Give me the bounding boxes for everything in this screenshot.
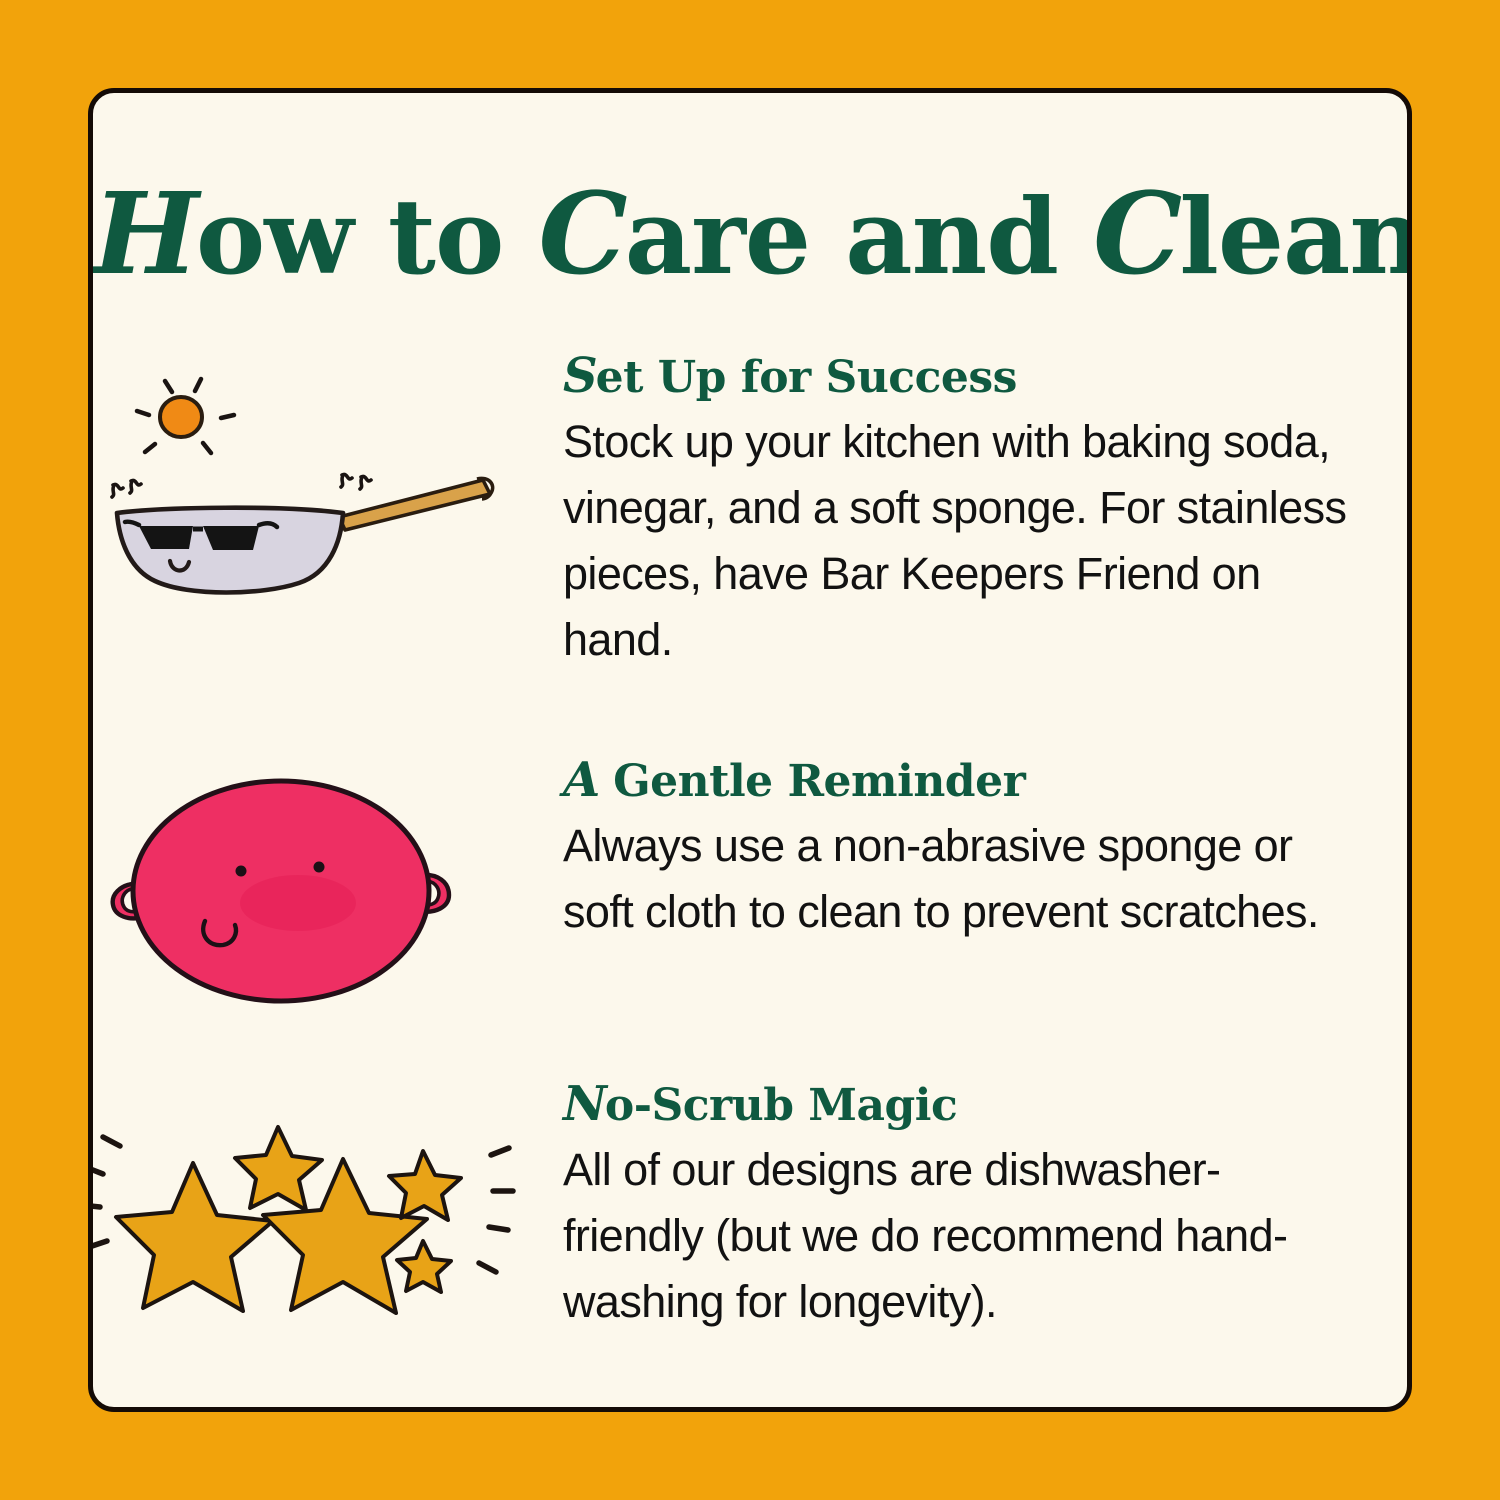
section-heading: Set Up for Success: [563, 351, 1347, 403]
poster-page: How to Care and Clean: [0, 0, 1500, 1500]
lemon-face-illustration-svg: [93, 763, 563, 1013]
heading-rest: o-Scrub Magic: [605, 1080, 957, 1131]
section-heading: A Gentle Reminder: [563, 755, 1347, 807]
section-body-text: Always use a non-abrasive sponge or soft…: [563, 813, 1347, 945]
heading-rest: Gentle Reminder: [598, 756, 1025, 807]
heading-swash: N: [563, 1076, 605, 1132]
care-instructions-list: Set Up for Success Stock up your kitchen…: [93, 351, 1407, 1335]
title-swash-h: H: [93, 169, 196, 300]
section-body-text: Stock up your kitchen with baking soda, …: [563, 409, 1347, 673]
title-swash-c2: C: [1093, 169, 1179, 300]
page-title: How to Care and Clean: [93, 179, 1407, 291]
frying-pan-illustration-svg: [93, 367, 563, 617]
sparkle-stars-icon: [93, 1099, 563, 1349]
section-copy: Set Up for Success Stock up your kitchen…: [563, 351, 1407, 673]
list-item: A Gentle Reminder Always use a non-abras…: [93, 755, 1407, 1005]
heading-swash: S: [563, 348, 596, 404]
list-item: No-Scrub Magic All of our designs are di…: [93, 1079, 1407, 1335]
title-swash-c1: C: [539, 169, 625, 300]
list-item: Set Up for Success Stock up your kitchen…: [93, 351, 1407, 673]
section-heading: No-Scrub Magic: [563, 1079, 1347, 1131]
frying-pan-with-sun-icon: [93, 367, 563, 617]
pink-lemon-face-icon: [93, 763, 563, 1013]
section-copy: A Gentle Reminder Always use a non-abras…: [563, 755, 1407, 945]
heading-swash: A: [563, 752, 598, 808]
title-text-3: lean: [1179, 175, 1412, 298]
title-text-2: are and: [625, 175, 1093, 298]
section-body-text: All of our designs are dishwasher-friend…: [563, 1137, 1347, 1335]
title-text-1: ow to: [196, 175, 539, 298]
heading-rest: et Up for Success: [596, 352, 1017, 403]
care-and-clean-card: How to Care and Clean: [88, 88, 1412, 1412]
section-copy: No-Scrub Magic All of our designs are di…: [563, 1079, 1407, 1335]
stars-illustration-svg: [93, 1099, 563, 1349]
